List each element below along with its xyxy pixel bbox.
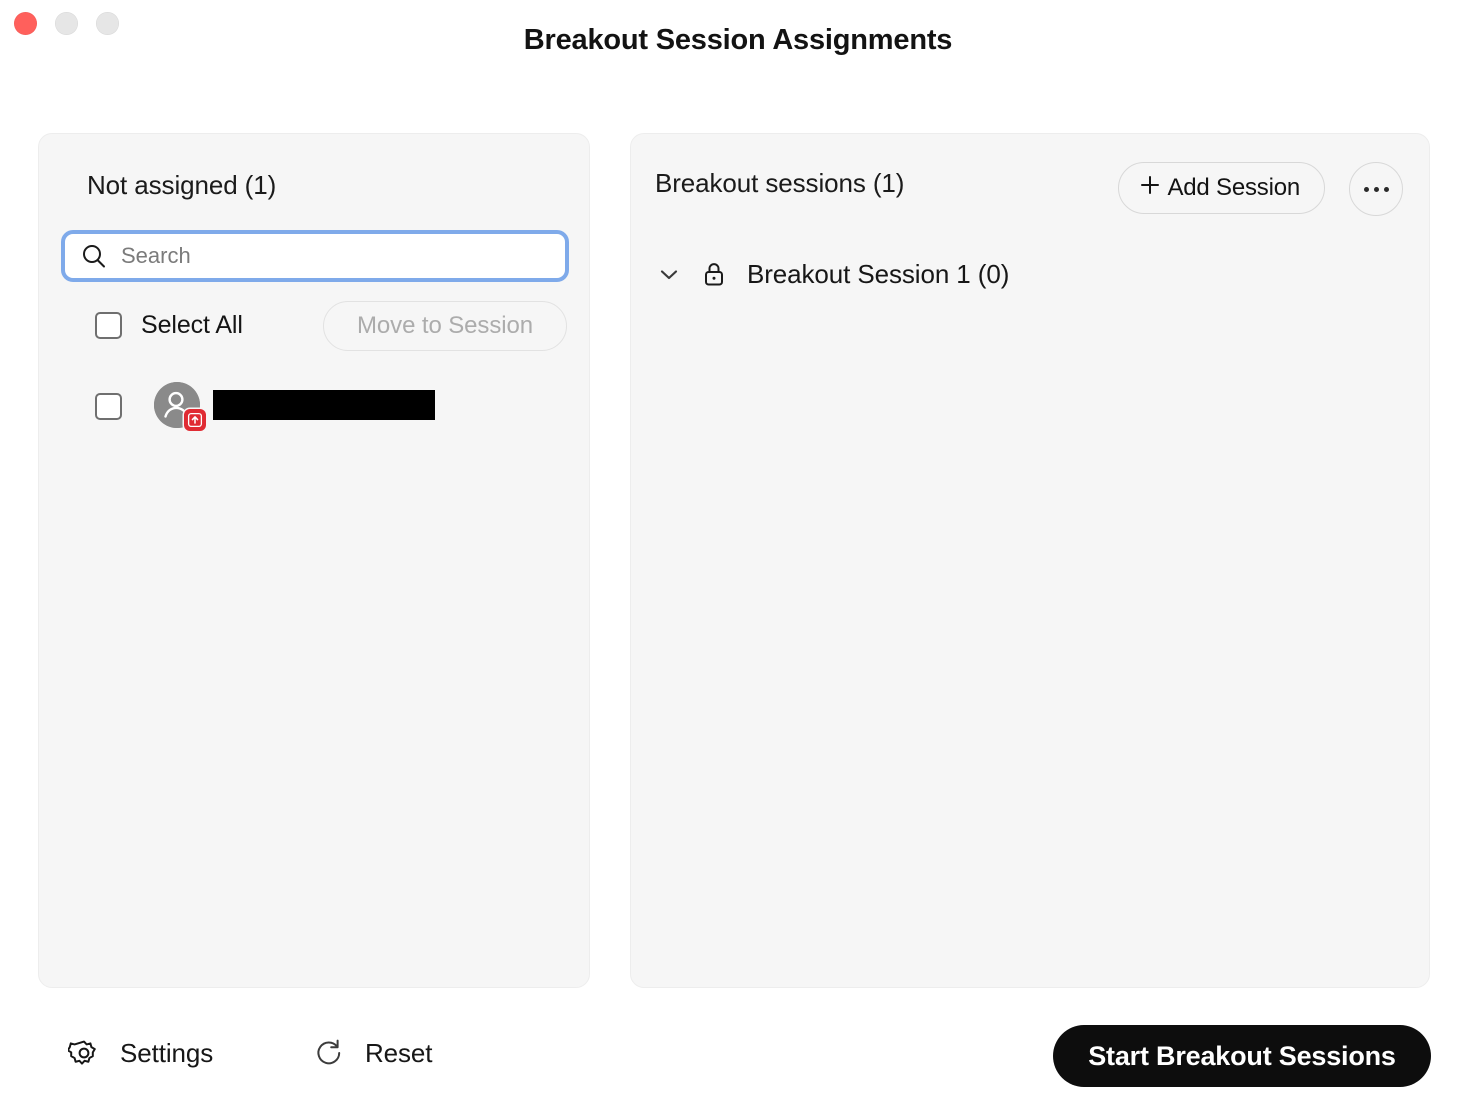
start-breakout-sessions-button[interactable]: Start Breakout Sessions	[1053, 1025, 1431, 1087]
plus-icon	[1137, 172, 1163, 205]
gear-icon	[68, 1037, 100, 1069]
search-icon	[81, 243, 107, 269]
page-title: Breakout Session Assignments	[0, 24, 1476, 57]
select-all-row[interactable]: Select All	[95, 302, 243, 348]
move-to-session-button[interactable]: Move to Session	[323, 301, 567, 351]
reset-icon	[313, 1037, 345, 1069]
reset-label: Reset	[365, 1038, 432, 1069]
add-session-button[interactable]: Add Session	[1118, 162, 1325, 214]
not-assigned-panel: Not assigned (1) Select All Move to Sess…	[38, 133, 590, 988]
titlebar: Breakout Session Assignments	[0, 0, 1476, 88]
lock-icon	[701, 260, 727, 288]
participant-list-item[interactable]: Host, me	[95, 382, 555, 428]
select-all-label: Select All	[141, 311, 243, 340]
more-options-button[interactable]	[1349, 162, 1403, 216]
select-all-checkbox[interactable]	[95, 312, 122, 339]
ellipsis-icon	[1364, 187, 1369, 192]
breakout-sessions-panel: Breakout sessions (1) Add Session	[630, 133, 1430, 988]
chevron-down-icon[interactable]	[655, 260, 683, 288]
settings-button[interactable]: Settings	[68, 1037, 213, 1069]
session-label: Breakout Session 1 (0)	[747, 259, 1009, 290]
ellipsis-icon-dot-2	[1374, 187, 1379, 192]
participant-name-redaction	[213, 390, 435, 420]
participant-text: Host, me	[218, 390, 309, 420]
avatar	[154, 382, 200, 428]
move-to-session-label: Move to Session	[357, 312, 533, 340]
reset-button[interactable]: Reset	[313, 1037, 432, 1069]
breakout-sessions-heading: Breakout sessions (1)	[655, 168, 904, 199]
settings-label: Settings	[120, 1038, 213, 1069]
not-assigned-heading: Not assigned (1)	[87, 170, 276, 201]
start-breakout-sessions-label: Start Breakout Sessions	[1088, 1041, 1396, 1072]
add-session-label: Add Session	[1167, 174, 1300, 202]
app-window: Breakout Session Assignments Not assigne…	[0, 0, 1476, 1102]
share-screen-arrow-icon	[184, 409, 206, 431]
search-input[interactable]	[121, 243, 521, 269]
participant-checkbox[interactable]	[95, 393, 122, 420]
ellipsis-icon-dot-3	[1384, 187, 1389, 192]
session-row[interactable]: Breakout Session 1 (0)	[655, 252, 1009, 296]
search-field[interactable]	[61, 230, 569, 282]
